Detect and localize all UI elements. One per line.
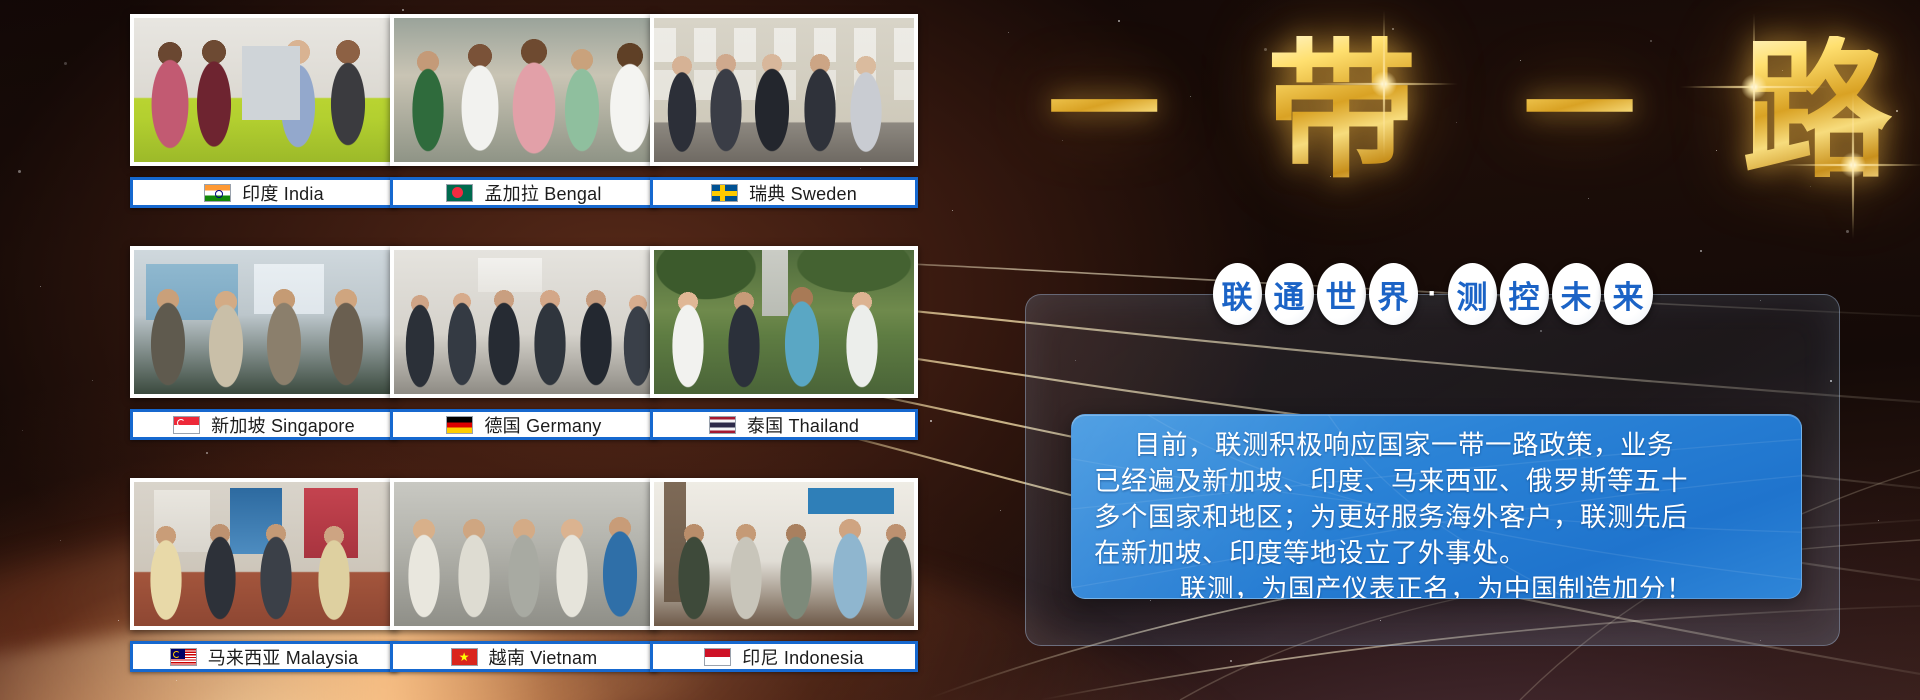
flag-thailand-icon [709, 416, 736, 434]
promotional-banner: 印度 India 孟加拉 Bengal 瑞典 Sweden [0, 0, 1920, 700]
slogan-separator-dot: · [1421, 263, 1445, 325]
slogan-pill-7: 未 [1552, 263, 1601, 325]
photo-indonesia [650, 478, 918, 630]
calligraphy-char-4: 路 [1742, 36, 1892, 186]
flag-india-icon [204, 184, 231, 202]
caption-vietnam: 越南 Vietnam [390, 641, 658, 672]
flag-indonesia-icon [704, 648, 731, 666]
slogan-pill-5: 测 [1448, 263, 1497, 325]
caption-sweden: 瑞典 Sweden [650, 177, 918, 208]
caption-label: 德国 Germany [484, 412, 601, 438]
caption-india: 印度 India [130, 177, 398, 208]
caption-label: 瑞典 Sweden [749, 180, 857, 206]
country-photo-grid: 印度 India 孟加拉 Bengal 瑞典 Sweden [130, 14, 930, 694]
slogan-pills: 联 通 世 界 · 测 控 未 来 [1030, 255, 1835, 333]
slogan-pill-3: 世 [1317, 263, 1366, 325]
photo-germany [390, 246, 658, 398]
caption-indonesia: 印尼 Indonesia [650, 641, 918, 672]
photo-malaysia [130, 478, 398, 630]
description-line-1: 目前，联测积极响应国家一带一路政策，业务 [1094, 428, 1779, 464]
caption-label: 越南 Vietnam [489, 644, 598, 670]
caption-singapore: 新加坡 Singapore [130, 409, 398, 440]
gallery-item-india[interactable]: 印度 India [130, 14, 398, 208]
flag-singapore-icon [173, 416, 200, 434]
caption-label: 印尼 Indonesia [742, 644, 863, 670]
gallery-item-germany[interactable]: 德国 Germany [390, 246, 658, 440]
slogan-pill-1: 联 [1213, 263, 1262, 325]
slogan-pill-8: 来 [1604, 263, 1653, 325]
description-line-3: 多个国家和地区；为更好服务海外客户，联测先后 [1094, 500, 1779, 536]
caption-label: 孟加拉 Bengal [484, 180, 601, 206]
photo-sweden [650, 14, 918, 166]
gallery-item-sweden[interactable]: 瑞典 Sweden [650, 14, 918, 208]
caption-thailand: 泰国 Thailand [650, 409, 918, 440]
gallery-item-indonesia[interactable]: 印尼 Indonesia [650, 478, 918, 672]
caption-label: 泰国 Thailand [747, 412, 859, 438]
description-line-5: 联测，为国产仪表正名，为中国制造加分！ [1094, 572, 1779, 599]
caption-label: 印度 India [242, 180, 324, 206]
photo-singapore [130, 246, 398, 398]
caption-label: 马来西亚 Malaysia [208, 644, 359, 670]
photo-thailand [650, 246, 918, 398]
calligraphy-char-2: 带 [1267, 36, 1417, 186]
gallery-item-vietnam[interactable]: 越南 Vietnam [390, 478, 658, 672]
slogan-pill-6: 控 [1500, 263, 1549, 325]
flag-germany-icon [446, 416, 473, 434]
caption-label: 新加坡 Singapore [211, 412, 355, 438]
calligraphy-title: 一 带 一 路 [1030, 8, 1910, 213]
photo-india [130, 14, 398, 166]
slogan-pill-4: 界 [1369, 263, 1418, 325]
slogan-pill-2: 通 [1265, 263, 1314, 325]
caption-malaysia: 马来西亚 Malaysia [130, 641, 398, 672]
flag-malaysia-icon [170, 648, 197, 666]
calligraphy-char-1: 一 [1048, 55, 1160, 167]
photo-vietnam [390, 478, 658, 630]
gallery-item-thailand[interactable]: 泰国 Thailand [650, 246, 918, 440]
calligraphy-char-3: 一 [1523, 55, 1635, 167]
flag-bangladesh-icon [446, 184, 473, 202]
gallery-item-singapore[interactable]: 新加坡 Singapore [130, 246, 398, 440]
description-line-2: 已经遍及新加坡、印度、马来西亚、俄罗斯等五十 [1094, 464, 1779, 500]
flag-vietnam-icon [451, 648, 478, 666]
caption-bangladesh: 孟加拉 Bengal [390, 177, 658, 208]
description-line-4: 在新加坡、印度等地设立了外事处。 [1094, 536, 1779, 572]
photo-bangladesh [390, 14, 658, 166]
gallery-item-bangladesh[interactable]: 孟加拉 Bengal [390, 14, 658, 208]
flag-sweden-icon [711, 184, 738, 202]
gallery-item-malaysia[interactable]: 马来西亚 Malaysia [130, 478, 398, 672]
description-card: 目前，联测积极响应国家一带一路政策，业务 已经遍及新加坡、印度、马来西亚、俄罗斯… [1071, 414, 1802, 599]
caption-germany: 德国 Germany [390, 409, 658, 440]
